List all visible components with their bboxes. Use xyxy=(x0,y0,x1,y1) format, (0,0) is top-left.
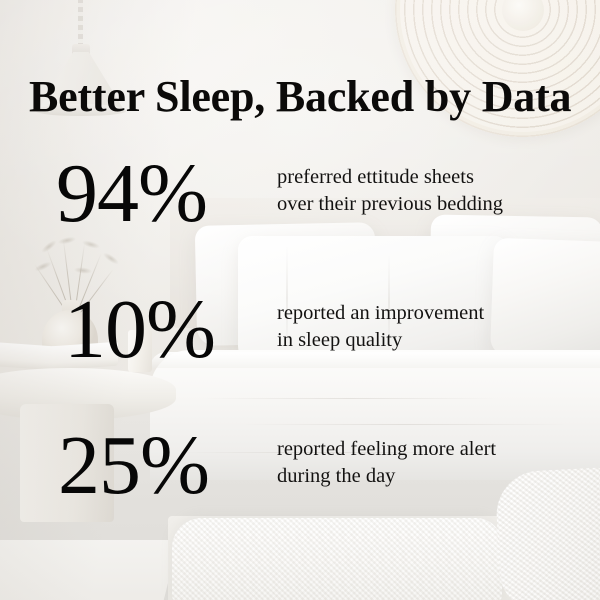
page-title: Better Sleep, Backed by Data xyxy=(29,74,589,120)
stat-description-3: reported feeling more alert during the d… xyxy=(277,436,577,489)
stat-description-1: preferred ettitude sheets over their pre… xyxy=(277,164,577,217)
stat-description-line: during the day xyxy=(277,463,577,490)
text-overlay: Better Sleep, Backed by Data 94% preferr… xyxy=(0,0,600,600)
stat-value-1: 94% xyxy=(56,152,266,236)
poster-canvas: Better Sleep, Backed by Data 94% preferr… xyxy=(0,0,600,600)
stat-description-line: reported an improvement xyxy=(277,300,577,327)
stat-description-line: reported feeling more alert xyxy=(277,436,577,463)
stat-value-3: 25% xyxy=(58,424,268,508)
stat-description-line: preferred ettitude sheets xyxy=(277,164,577,191)
stat-description-2: reported an improvement in sleep quality xyxy=(277,300,577,353)
stat-value-2: 10% xyxy=(64,288,274,372)
stat-description-line: in sleep quality xyxy=(277,327,577,354)
stat-description-line: over their previous bedding xyxy=(277,191,577,218)
